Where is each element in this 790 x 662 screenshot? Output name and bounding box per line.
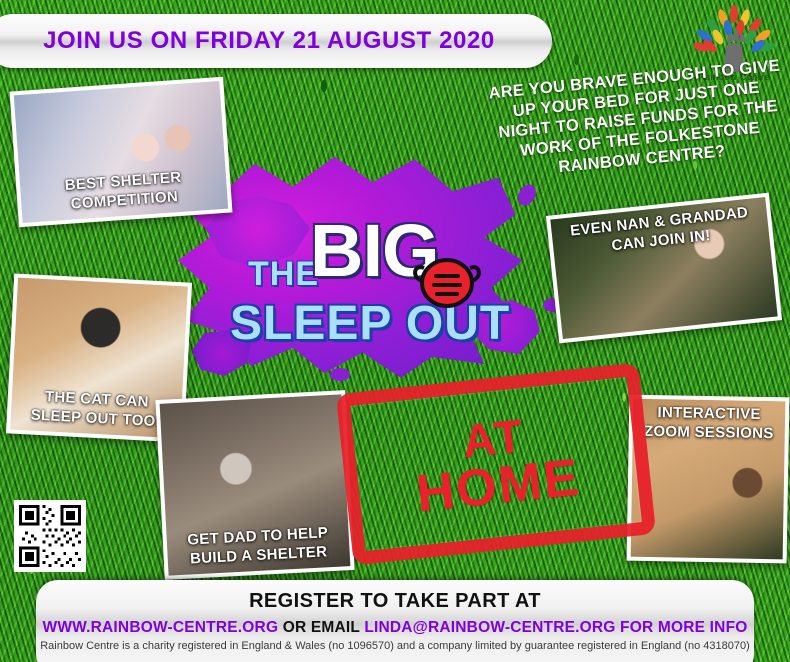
photo-caption: INTERACTIVE ZOOM SESSIONS [633, 403, 786, 444]
photo-nan-grandad: EVEN NAN & GRANDAD CAN JOIN IN! [546, 193, 782, 344]
photo-best-shelter: BEST SHELTER COMPETITION [10, 77, 233, 228]
footer-register-line: REGISTER TO TAKE PART AT [36, 590, 754, 613]
stamp-line2: HOME [414, 453, 582, 521]
photo-caption: GET DAD TO HELP BUILD A SHELTER [166, 522, 350, 569]
footer-legal-text: Rainbow Centre is a charity registered i… [36, 640, 754, 652]
footer-contact-line: WWW.RAINBOW-CENTRE.ORG OR EMAIL LINDA@RA… [36, 619, 754, 637]
photo-image: INTERACTIVE ZOOM SESSIONS [631, 399, 786, 560]
header-banner: JOIN US ON FRIDAY 21 AUGUST 2020 [0, 14, 552, 68]
photo-zoom-sessions: INTERACTIVE ZOOM SESSIONS [627, 395, 790, 564]
footer-website-link[interactable]: WWW.RAINBOW-CENTRE.ORG [43, 619, 279, 636]
footer-email-link[interactable]: LINDA@RAINBOW-CENTRE.ORG FOR MORE INFO [364, 619, 747, 636]
footer-or-email-label: OR EMAIL [278, 619, 364, 636]
stamp-text: AT HOME [336, 363, 656, 566]
at-home-stamp: AT HOME [336, 363, 656, 566]
photo-image: EVEN NAN & GRANDAD CAN JOIN IN! [550, 197, 777, 339]
footer-panel: REGISTER TO TAKE PART AT WWW.RAINBOW-CEN… [36, 580, 754, 662]
photo-dad-shelter: GET DAD TO HELP BUILD A SHELTER [155, 390, 354, 580]
face-mask-icon [410, 252, 484, 312]
photo-image: GET DAD TO HELP BUILD A SHELTER [160, 394, 351, 575]
paint-drip-d [330, 368, 350, 381]
logotype-the: THE [248, 255, 319, 294]
photo-caption-line2: ZOOM SESSIONS [639, 422, 779, 443]
header-banner-text: JOIN US ON FRIDAY 21 AUGUST 2020 [43, 27, 495, 55]
big-sleep-out-logotype: THE BIG SLEEP OUT [228, 200, 528, 360]
photo-caption-line1: INTERACTIVE [639, 403, 779, 424]
photo-image: BEST SHELTER COMPETITION [14, 81, 228, 223]
photo-caption: BEST SHELTER COMPETITION [20, 165, 228, 217]
poster: JOIN US ON FRIDAY 21 AUGUST 2020 [0, 0, 790, 662]
qr-code[interactable] [14, 500, 86, 572]
